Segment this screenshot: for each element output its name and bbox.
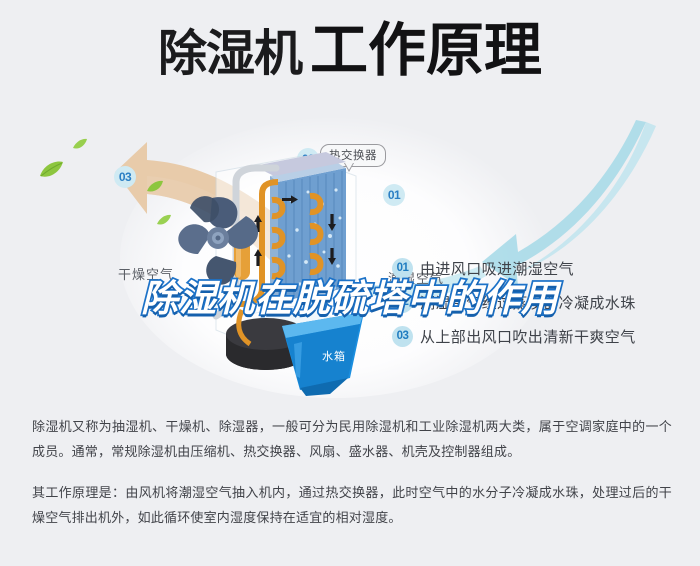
page-title-prefix: 除湿机 <box>158 27 302 81</box>
diagram-badge-03: 03 <box>114 166 136 188</box>
leaf-icon <box>38 160 64 180</box>
dehumidifier-diagram: 03 02 01 热交换器 干燥空气 潮湿空气 <box>0 108 700 398</box>
body-paragraph-2: 其工作原理是：由风机将潮湿空气抽入机内，通过热交换器，此时空气中的水分子冷凝成水… <box>32 480 672 530</box>
body-paragraph-1: 除湿机又称为抽湿机、干燥机、除湿器，一般可分为民用除湿机和工业除湿机两大类，属于… <box>32 414 672 464</box>
leaf-icon <box>72 138 88 151</box>
page-root: 除湿机工作原理 03 02 01 <box>0 0 700 566</box>
overlay-watermark-title: 除湿机在脱硫塔中的作用 <box>0 268 700 322</box>
list-item: 03 从上部出风口吹出清新干爽空气 <box>392 319 692 353</box>
page-title: 除湿机工作原理 <box>0 22 700 80</box>
step-badge-03: 03 <box>392 326 413 347</box>
page-title-main: 工作原理 <box>310 18 542 83</box>
step-text-03: 从上部出风口吹出清新干爽空气 <box>420 326 636 347</box>
water-tank-label: 水箱 <box>322 348 346 364</box>
article-body: 除湿机又称为抽湿机、干燥机、除湿器，一般可分为民用除湿机和工业除湿机两大类，属于… <box>32 414 672 530</box>
